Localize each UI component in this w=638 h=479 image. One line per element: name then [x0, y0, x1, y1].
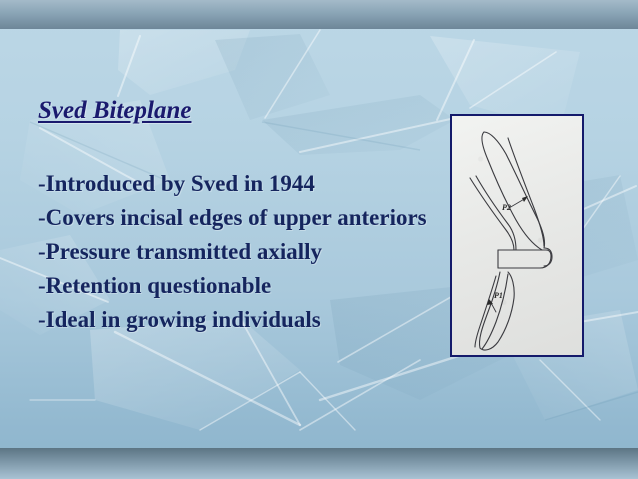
bullet-item: -Retention questionable	[38, 269, 448, 303]
bottom-accent-band	[0, 448, 638, 479]
bullet-item: -Covers incisal edges of upper anteriors	[38, 201, 448, 235]
bullet-item: -Pressure transmitted axially	[38, 235, 448, 269]
figure-frame: P2 P1	[450, 114, 584, 357]
bullet-list: -Introduced by Sved in 1944 -Covers inci…	[38, 167, 448, 337]
bullet-item: -Introduced by Sved in 1944	[38, 167, 448, 201]
figure-label-p2: P2	[502, 203, 511, 212]
sved-biteplane-diagram: P2 P1	[452, 116, 582, 355]
figure-label-p1: P1	[494, 291, 503, 300]
top-accent-band	[0, 0, 638, 29]
presentation-slide: Sved Biteplane -Introduced by Sved in 19…	[0, 0, 638, 479]
slide-title: Sved Biteplane	[38, 97, 191, 125]
bullet-item: -Ideal in growing individuals	[38, 303, 448, 337]
